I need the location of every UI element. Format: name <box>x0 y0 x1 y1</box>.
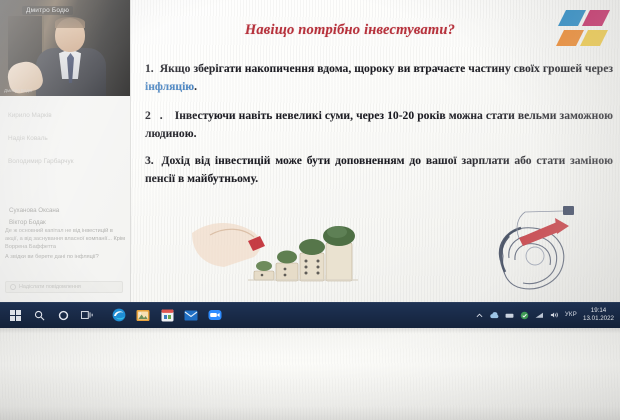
system-tray[interactable]: УКР 19:14 13.01.2022 <box>475 307 620 323</box>
antivirus-icon[interactable] <box>520 311 529 320</box>
mail-icon[interactable] <box>179 303 203 327</box>
microsoft-store-icon[interactable] <box>155 303 179 327</box>
clock-time: 19:14 <box>583 307 614 315</box>
bullet-1-text-after: . <box>194 80 197 93</box>
bullet-3-text: Дохід від інвестицій може бути доповненн… <box>145 154 613 185</box>
windows-start-icon[interactable] <box>3 303 27 327</box>
bullet-1-highlight: інфляцію <box>145 80 194 93</box>
taskbar-clock[interactable]: 19:14 13.01.2022 <box>583 307 614 323</box>
chat-input[interactable]: Надіслати повідомлення <box>5 281 123 293</box>
participant-item[interactable]: Надія Коваль <box>0 127 130 150</box>
desk-surface-below-screen <box>0 328 620 420</box>
presentation-slide: Навіщо потрібно інвестувати? 1. Якщо збе… <box>0 0 620 302</box>
speaker-name-label: Дмитро Бодю <box>22 6 73 15</box>
volume-icon[interactable] <box>550 311 559 320</box>
participants-list[interactable]: Кирило Марків Надія Коваль Володимир Гар… <box>0 100 130 214</box>
windows-taskbar[interactable]: УКР 19:14 13.01.2022 <box>0 302 620 328</box>
chat-message-author: Віктор Бодак <box>9 219 125 226</box>
bullet-2-number: 2. <box>145 109 172 122</box>
cortana-icon[interactable] <box>51 303 75 327</box>
language-indicator[interactable]: УКР <box>565 312 577 318</box>
usb-icon[interactable] <box>505 311 514 320</box>
zoom-meeting-panel: Дмитро Бодю Дмитро Бодю Кирило Марків На… <box>0 0 131 302</box>
bullet-1-text-before: Якщо зберігати накопичення вдома, щороку… <box>157 62 613 75</box>
photographed-screen-scene: Навіщо потрібно інвестувати? 1. Якщо збе… <box>0 0 620 420</box>
chat-message-text: А звідки ви берете дані по інфляції? <box>5 253 125 261</box>
chat-panel[interactable]: Суханова Оксана Віктор Бодак Де ж основн… <box>0 200 130 302</box>
zoom-icon[interactable] <box>203 303 227 327</box>
photos-icon[interactable] <box>131 303 155 327</box>
task-view-icon[interactable] <box>75 303 99 327</box>
coin-stack-growth-illustration <box>190 205 390 297</box>
bullet-1-number: 1. <box>145 62 154 75</box>
onedrive-icon[interactable] <box>490 311 499 320</box>
slide-bullet-1: 1. Якщо зберігати накопичення вдома, щор… <box>145 60 613 97</box>
network-icon[interactable] <box>535 311 544 320</box>
rolled-banknote-illustration <box>485 200 595 298</box>
monitor-screen: Навіщо потрібно інвестувати? 1. Якщо збе… <box>0 0 620 330</box>
clock-date: 13.01.2022 <box>583 315 614 323</box>
edge-browser-icon[interactable] <box>107 303 131 327</box>
bullet-3-number: 3. <box>145 154 154 167</box>
slide-bullet-2: 2.Інвестуючи навіть невеликі суми, через… <box>145 107 613 144</box>
speaker-video-tile[interactable]: Дмитро Бодю Дмитро Бодю <box>0 0 130 96</box>
slide-bullet-3: 3. Дохід від інвестицій може бути доповн… <box>145 152 613 189</box>
chat-participant-name: Суханова Оксана <box>9 207 125 214</box>
bullet-2-text: Інвестуючи навіть невеликі суми, через 1… <box>145 109 613 140</box>
four-parallelogram-logo <box>556 8 612 50</box>
chevron-up-icon[interactable] <box>475 311 484 320</box>
taskbar-icon-group[interactable] <box>0 303 227 327</box>
participant-item[interactable]: Володимир Гарбарчук <box>0 150 130 173</box>
chat-input-placeholder: Надіслати повідомлення <box>19 284 81 290</box>
emoji-icon[interactable] <box>10 284 16 290</box>
search-icon[interactable] <box>27 303 51 327</box>
participant-item[interactable]: Кирило Марків <box>0 104 130 127</box>
speaker-hair <box>55 17 85 28</box>
chat-message-text: Де ж основний капітал не від інвестицій … <box>5 227 125 251</box>
video-corner-tag: Дмитро Бодю <box>4 88 32 93</box>
slide-title: Навіщо потрібно інвестувати? <box>150 22 550 39</box>
